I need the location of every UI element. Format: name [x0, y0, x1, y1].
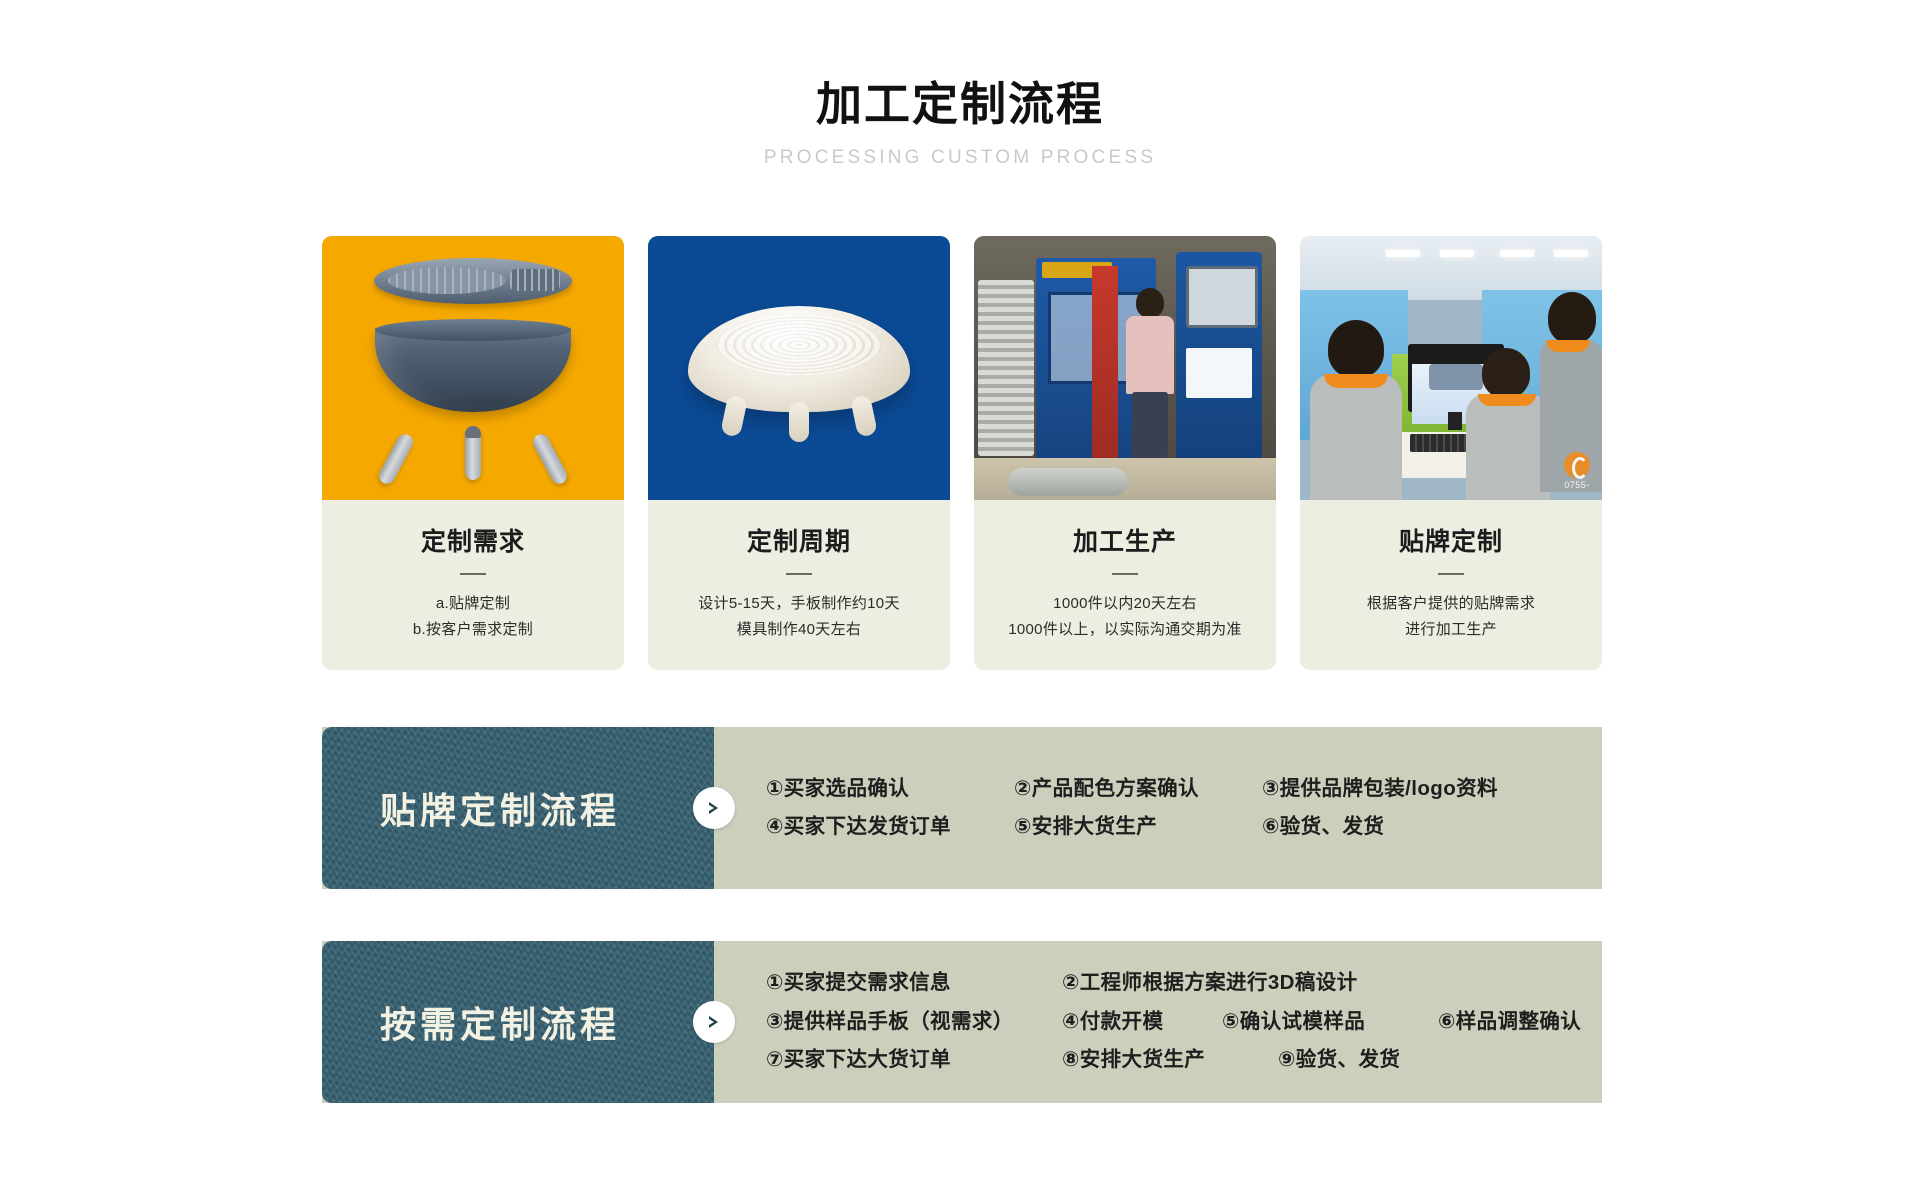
ondemand-process-banner: 按需定制流程 ①买家提交需求信息 ②工程师根据方案进行3D稿设计 ③提供样品手板… — [322, 941, 1602, 1103]
card-divider — [786, 573, 812, 575]
step-row: ④买家下达发货订单 ⑤安排大货生产 ⑥验货、发货 — [766, 817, 1580, 838]
worker-head — [1482, 348, 1530, 398]
ceiling-light — [1440, 250, 1474, 257]
process-step: ①买家提交需求信息 — [766, 973, 1062, 994]
photo-watermark: 0755- — [1564, 452, 1590, 490]
card-desc-line: 1000件以内20天左右 — [984, 591, 1266, 617]
card-divider — [460, 573, 486, 575]
grill-leg-center-shape — [465, 426, 481, 480]
mold-leg-center-shape — [789, 402, 809, 442]
process-step: ⑥验货、发货 — [1262, 817, 1384, 838]
card-title: 定制需求 — [332, 522, 614, 558]
ceiling-light — [1386, 250, 1420, 257]
process-step: ⑧安排大货生产 — [1062, 1050, 1278, 1071]
office-worker-center — [1466, 348, 1550, 500]
card-desc-line: b.按客户需求定制 — [332, 617, 614, 643]
step-row: ①买家提交需求信息 ②工程师根据方案进行3D稿设计 — [766, 973, 1581, 994]
process-cards-row: 定制需求 a.贴牌定制 b.按客户需求定制 定制周期 设计5-15天，手板制作约… — [322, 236, 1602, 670]
chevron-right-icon — [693, 787, 735, 829]
card-illustration-grill-exploded — [322, 236, 624, 500]
step-row: ①买家选品确认 ②产品配色方案确认 ③提供品牌包装/logo资料 — [766, 779, 1580, 800]
process-step: ①买家选品确认 — [766, 779, 1014, 800]
card-body: 定制需求 a.贴牌定制 b.按客户需求定制 — [322, 500, 624, 670]
process-card-production[interactable]: 加工生产 1000件以内20天左右 1000件以上，以实际沟通交期为准 — [974, 236, 1276, 670]
factory-operator — [1124, 288, 1176, 456]
grill-bowl-shape — [375, 328, 571, 412]
chevron-right-icon — [693, 1001, 735, 1043]
card-title: 加工生产 — [984, 522, 1266, 558]
card-photo-office-design: 0755- — [1300, 236, 1602, 500]
mold-rings-shape — [717, 314, 881, 376]
operator-legs — [1132, 392, 1168, 458]
oem-process-steps: ①买家选品确认 ②产品配色方案确认 ③提供品牌包装/logo资料 ④买家下达发货… — [714, 727, 1602, 889]
company-logo-icon — [1564, 452, 1590, 478]
process-step: ⑦买家下达大货订单 — [766, 1050, 1062, 1071]
ondemand-process-label: 按需定制流程 — [322, 941, 714, 1103]
molded-part — [1008, 468, 1128, 496]
process-step: ⑤确认试模样品 — [1222, 1012, 1438, 1033]
page-subtitle: PROCESSING CUSTOM PROCESS — [0, 147, 1920, 169]
process-step: ③提供样品手板（视需求） — [766, 1012, 1062, 1033]
card-body: 定制周期 设计5-15天，手板制作约10天 模具制作40天左右 — [648, 500, 950, 670]
grill-leg-left-shape — [376, 431, 415, 486]
grill-leg-right-shape — [530, 431, 569, 486]
page-title: 加工定制流程 — [0, 78, 1920, 131]
watermark-text: 0755- — [1564, 480, 1590, 490]
machine-control-panel — [1176, 252, 1262, 480]
step-row: ⑦买家下达大货订单 ⑧安排大货生产 ⑨验货、发货 — [766, 1050, 1581, 1071]
process-card-oem-branding[interactable]: 0755- 贴牌定制 根据客户提供的贴牌需求 进行加工生产 — [1300, 236, 1602, 670]
banner-label-text: 按需定制流程 — [380, 996, 656, 1048]
oem-process-label: 贴牌定制流程 — [322, 727, 714, 889]
oem-process-banner: 贴牌定制流程 ①买家选品确认 ②产品配色方案确认 ③提供品牌包装/logo资料 … — [322, 727, 1602, 889]
card-desc-line: 进行加工生产 — [1310, 617, 1592, 643]
processing-custom-process-page: 加工定制流程 PROCESSING CUSTOM PROCESS 定制需求 a.… — [0, 0, 1920, 1200]
process-step: ⑥样品调整确认 — [1438, 1012, 1581, 1033]
grill-lid-shape — [374, 258, 572, 304]
process-card-custom-cycle[interactable]: 定制周期 设计5-15天，手板制作约10天 模具制作40天左右 — [648, 236, 950, 670]
process-step: ③提供品牌包装/logo资料 — [1262, 779, 1498, 800]
card-desc-line: 根据客户提供的贴牌需求 — [1310, 591, 1592, 617]
process-step: ②产品配色方案确认 — [1014, 779, 1262, 800]
card-body: 加工生产 1000件以内20天左右 1000件以上，以实际沟通交期为准 — [974, 500, 1276, 670]
card-desc-line: a.贴牌定制 — [332, 591, 614, 617]
card-title: 定制周期 — [658, 522, 940, 558]
card-body: 贴牌定制 根据客户提供的贴牌需求 进行加工生产 — [1300, 500, 1602, 670]
section-header: 加工定制流程 PROCESSING CUSTOM PROCESS — [0, 0, 1920, 169]
card-desc-line: 1000件以上，以实际沟通交期为准 — [984, 617, 1266, 643]
step-row: ③提供样品手板（视需求） ④付款开模 ⑤确认试模样品 ⑥样品调整确认 — [766, 1012, 1581, 1033]
card-title: 贴牌定制 — [1310, 522, 1592, 558]
monitor-stand — [1448, 412, 1462, 430]
card-photo-factory-machine — [974, 236, 1276, 500]
worker-collar — [1546, 340, 1590, 352]
worker-torso — [1466, 394, 1550, 500]
stacked-parts — [978, 280, 1034, 456]
worker-collar — [1478, 394, 1536, 406]
worker-head — [1328, 320, 1384, 378]
ondemand-process-steps: ①买家提交需求信息 ②工程师根据方案进行3D稿设计 ③提供样品手板（视需求） ④… — [714, 941, 1603, 1103]
worker-torso — [1310, 374, 1402, 500]
process-step: ⑨验货、发货 — [1278, 1050, 1400, 1071]
card-illustration-white-mold — [648, 236, 950, 500]
card-divider — [1112, 573, 1138, 575]
worker-head — [1548, 292, 1596, 344]
machine-red-column — [1092, 266, 1118, 478]
process-step: ④付款开模 — [1062, 1012, 1222, 1033]
process-step: ②工程师根据方案进行3D稿设计 — [1062, 973, 1358, 994]
worker-collar — [1324, 374, 1388, 388]
process-step: ④买家下达发货订单 — [766, 817, 1014, 838]
ceiling-light — [1554, 250, 1588, 257]
operator-torso — [1126, 316, 1174, 394]
ceiling-light — [1500, 250, 1534, 257]
card-divider — [1438, 573, 1464, 575]
office-worker-left — [1310, 320, 1402, 500]
banner-label-text: 贴牌定制流程 — [380, 782, 656, 834]
process-step: ⑤安排大货生产 — [1014, 817, 1262, 838]
card-desc-line: 设计5-15天，手板制作约10天 — [658, 591, 940, 617]
process-card-custom-requirement[interactable]: 定制需求 a.贴牌定制 b.按客户需求定制 — [322, 236, 624, 670]
card-desc-line: 模具制作40天左右 — [658, 617, 940, 643]
operator-head — [1136, 288, 1164, 318]
